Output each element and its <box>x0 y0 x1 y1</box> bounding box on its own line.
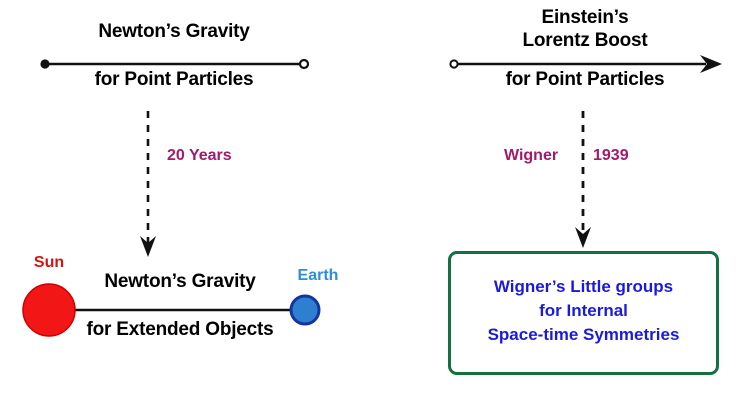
right-top-subtitle: for Point Particles <box>506 70 665 90</box>
left-dashed-arrow-icon <box>140 111 156 257</box>
box-line-2: for Internal <box>451 300 716 322</box>
right-top-title-line1: Einstein’s <box>541 8 628 28</box>
earth-icon <box>291 296 319 324</box>
right-top-axis-start-open-dot-icon <box>450 60 457 67</box>
box-line-1: Wigner’s Little groups <box>451 276 716 298</box>
wigner-little-groups-box: Wigner’s Little groups for Internal Spac… <box>448 251 719 375</box>
left-arrow-label: 20 Years <box>167 148 232 165</box>
left-dashed-arrow-head <box>140 236 156 257</box>
right-top-title-line2: Lorentz Boost <box>522 31 647 51</box>
left-top-axis-end-open-dot-icon <box>300 60 308 68</box>
sun-label: Sun <box>34 255 64 272</box>
right-top-axis-arrowhead-icon <box>700 55 722 73</box>
right-arrow-label-right: 1939 <box>593 148 629 165</box>
diagram-canvas: Newton’s Gravity for Point Particles 20 … <box>0 0 750 419</box>
sun-icon <box>23 284 75 336</box>
left-top-title: Newton’s Gravity <box>98 22 249 42</box>
left-bottom-subtitle: for Extended Objects <box>86 320 273 340</box>
box-line-3: Space-time Symmetries <box>451 324 716 346</box>
right-dashed-arrow-head <box>575 227 591 248</box>
left-bottom-title: Newton’s Gravity <box>104 272 255 292</box>
left-top-subtitle: for Point Particles <box>95 70 254 90</box>
right-dashed-arrow-icon <box>575 111 591 248</box>
left-top-axis <box>40 59 308 68</box>
right-arrow-label-left: Wigner <box>504 148 558 165</box>
earth-label: Earth <box>298 268 339 285</box>
left-top-axis-start-dot-icon <box>40 59 49 68</box>
